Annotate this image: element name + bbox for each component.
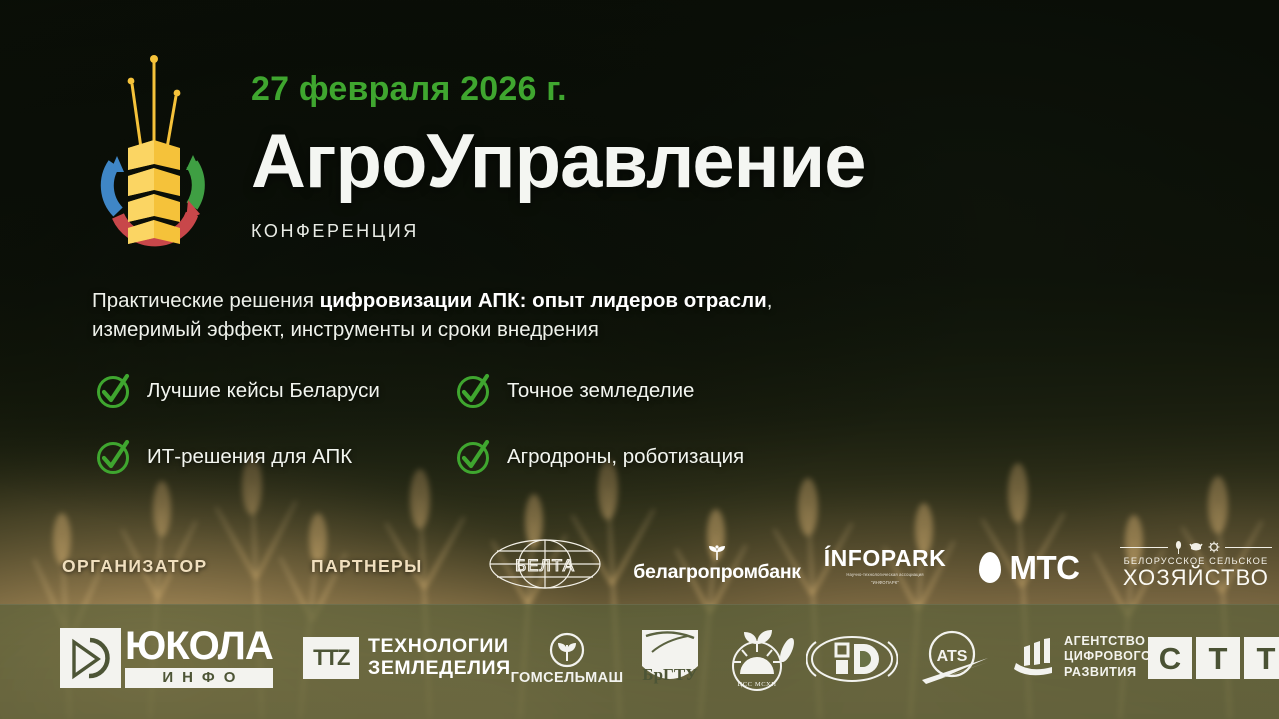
partner-logo-belagropromabank[interactable]: белагропромбанк (634, 540, 800, 588)
check-circle-icon (454, 372, 492, 410)
check-circle-icon (94, 438, 132, 476)
partner-logo-infopark-text: ÍNFOPARK (824, 547, 946, 570)
partners-label: ПАРТНЕРЫ (311, 556, 423, 577)
partner-logo-infopark-sub1: Научно-технологическая ассоциация (846, 572, 923, 577)
feature-item-2: Точное земледелие (454, 372, 814, 410)
ats-text: ATS (937, 648, 968, 665)
check-circle-icon (94, 372, 132, 410)
sponsor-logo-sunrise-emblem[interactable]: ЦСС МСХП (716, 624, 802, 694)
adr-line3: РАЗВИТИЯ (1064, 665, 1151, 680)
mts-egg-icon (979, 552, 1001, 583)
adr-mark-icon (1012, 637, 1056, 677)
feature-label: Агродроны, роботизация (507, 445, 744, 469)
sponsor-logo-gomselmash[interactable]: ГОМСЕЛЬМАШ (512, 632, 622, 686)
ttz-line1: ТЕХНОЛОГИИ (368, 636, 511, 658)
feature-label: Лучшие кейсы Беларуси (147, 379, 380, 403)
partner-logo-belagropromabank-text: белагропромбанк (633, 561, 801, 584)
lead-text-line2: измеримый эффект, инструменты и сроки вн… (92, 318, 599, 341)
feature-list: Лучшие кейсы Беларуси Точное земледелие (94, 372, 874, 476)
partner-logo-mts[interactable]: МТС (968, 546, 1090, 588)
ttz-line2: ЗЕМЛЕДЕЛИЯ (368, 658, 511, 680)
belselhoz-line2: ХОЗЯЙСТВО (1123, 566, 1269, 589)
sprout-icon (706, 544, 728, 561)
svg-text:БЕЛТА: БЕЛТА (515, 556, 575, 575)
page-title: АгроУправление (251, 124, 866, 200)
feature-item-3: ИТ-решения для АПК (94, 438, 454, 476)
wheat-icon (1173, 541, 1184, 554)
lead-paragraph: Практические решения цифровизации АПК: о… (92, 286, 922, 344)
adr-line2: ЦИФРОВОГО (1064, 649, 1151, 664)
lead-text-1: Практические решения (92, 289, 320, 312)
yukola-mark-icon (60, 628, 121, 688)
lead-text-bold: цифровизации АПК: опыт лидеров отрасли (320, 289, 767, 312)
divider-right (1225, 547, 1273, 548)
gomselmash-mark-icon (549, 632, 585, 668)
banner-heading-group: 27 февраля 2026 г. АгроУправление КОНФЕР… (251, 72, 866, 242)
yukola-word: ЮКОЛА (125, 628, 273, 665)
check-circle-icon (454, 438, 492, 476)
event-date: 27 февраля 2026 г. (251, 72, 866, 106)
feature-label: Точное земледелие (507, 379, 694, 403)
ctt-cell-3: Т (1244, 637, 1279, 679)
sponsor-logo-ats[interactable]: ATS (918, 628, 992, 686)
ttz-mark: TTZ (303, 637, 359, 679)
agroupravlenie-logo-icon (88, 44, 220, 256)
ctt-cell-1: С (1148, 637, 1192, 679)
gomselmash-text: ГОМСЕЛЬМАШ (511, 670, 624, 686)
sponsor-logo-ctt[interactable]: С Т Т (1148, 636, 1279, 680)
partner-logo-infopark[interactable]: ÍNFOPARK Научно-технологическая ассоциац… (824, 544, 946, 588)
sponsor-logo-agency-digital-development[interactable]: АГЕНТСТВО ЦИФРОВОГО РАЗВИТИЯ (1012, 632, 1151, 682)
yukola-sub: ИНФО (125, 668, 273, 689)
svg-text:БрГТУ: БрГТУ (642, 665, 698, 684)
partner-logo-infopark-sub2: "ИНФОПАРК" (871, 580, 899, 585)
sponsor-logo-id[interactable] (806, 634, 898, 684)
adr-line1: АГЕНТСТВО (1064, 634, 1151, 649)
cow-icon (1189, 541, 1203, 553)
partner-logo-mts-text: МТС (1010, 551, 1080, 584)
sponsor-logo-yukola-info[interactable]: ЮКОЛА ИНФО (60, 628, 273, 688)
sunrise-emblem-subtext: ЦСС МСХП (737, 681, 776, 688)
feature-label: ИТ-решения для АПК (147, 445, 352, 469)
event-type-kicker: КОНФЕРЕНЦИЯ (251, 221, 866, 242)
sponsor-logo-ttz[interactable]: TTZ ТЕХНОЛОГИИ ЗЕМЛЕДЕЛИЯ (303, 634, 511, 682)
sponsor-logo-brgtu[interactable]: БрГТУ (636, 626, 704, 692)
gear-icon (1208, 541, 1220, 553)
feature-item-4: Агродроны, роботизация (454, 438, 814, 476)
organizer-label: ОРГАНИЗАТОР (62, 556, 208, 577)
conference-banner: 27 февраля 2026 г. АгроУправление КОНФЕР… (0, 0, 1279, 719)
divider-left (1120, 547, 1168, 548)
partner-logo-belta[interactable]: БЕЛТА (482, 538, 608, 590)
lead-text-2: , (767, 289, 773, 312)
partner-logo-belorusskoe-selskoe-hozyaystvo[interactable]: БЕЛОРУССКОЕ СЕЛЬСКОЕ ХОЗЯЙСТВО (1120, 536, 1272, 594)
ctt-cell-2: Т (1196, 637, 1240, 679)
feature-item-1: Лучшие кейсы Беларуси (94, 372, 454, 410)
